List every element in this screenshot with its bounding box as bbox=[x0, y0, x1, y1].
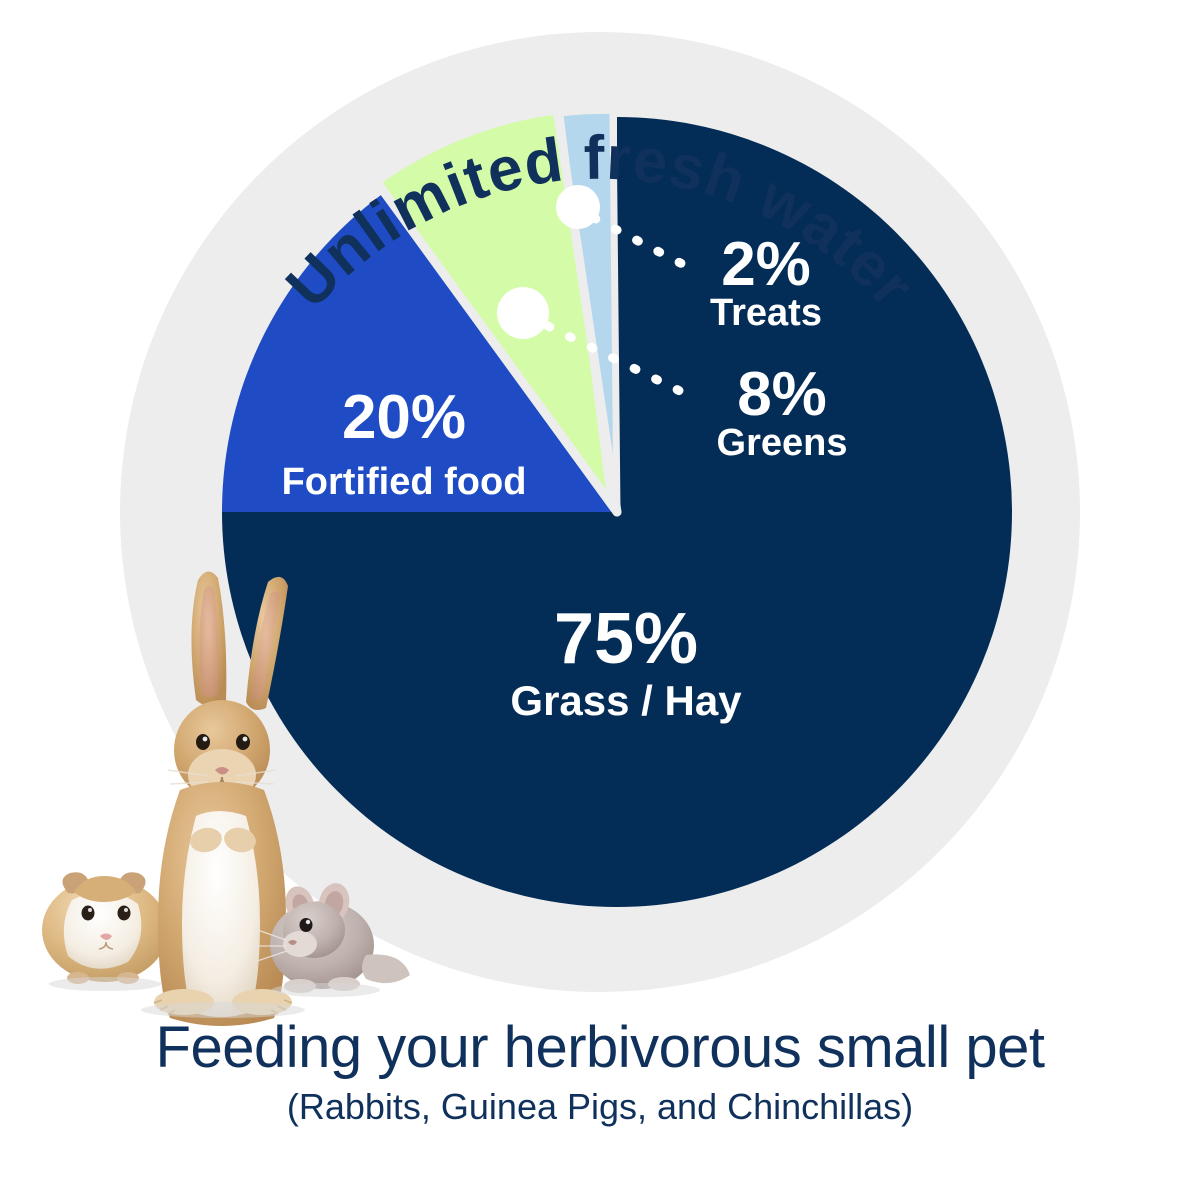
caption-subtitle: (Rabbits, Guinea Pigs, and Chinchillas) bbox=[0, 1087, 1200, 1127]
animal-photo-group bbox=[0, 0, 1200, 1177]
caption-block: Feeding your herbivorous small pet (Rabb… bbox=[0, 1018, 1200, 1126]
guinea-pig bbox=[42, 872, 168, 991]
caption-title: Feeding your herbivorous small pet bbox=[0, 1018, 1200, 1079]
infographic-root: Unlimited fresh water 2% Treats 8% Green… bbox=[0, 0, 1200, 1177]
